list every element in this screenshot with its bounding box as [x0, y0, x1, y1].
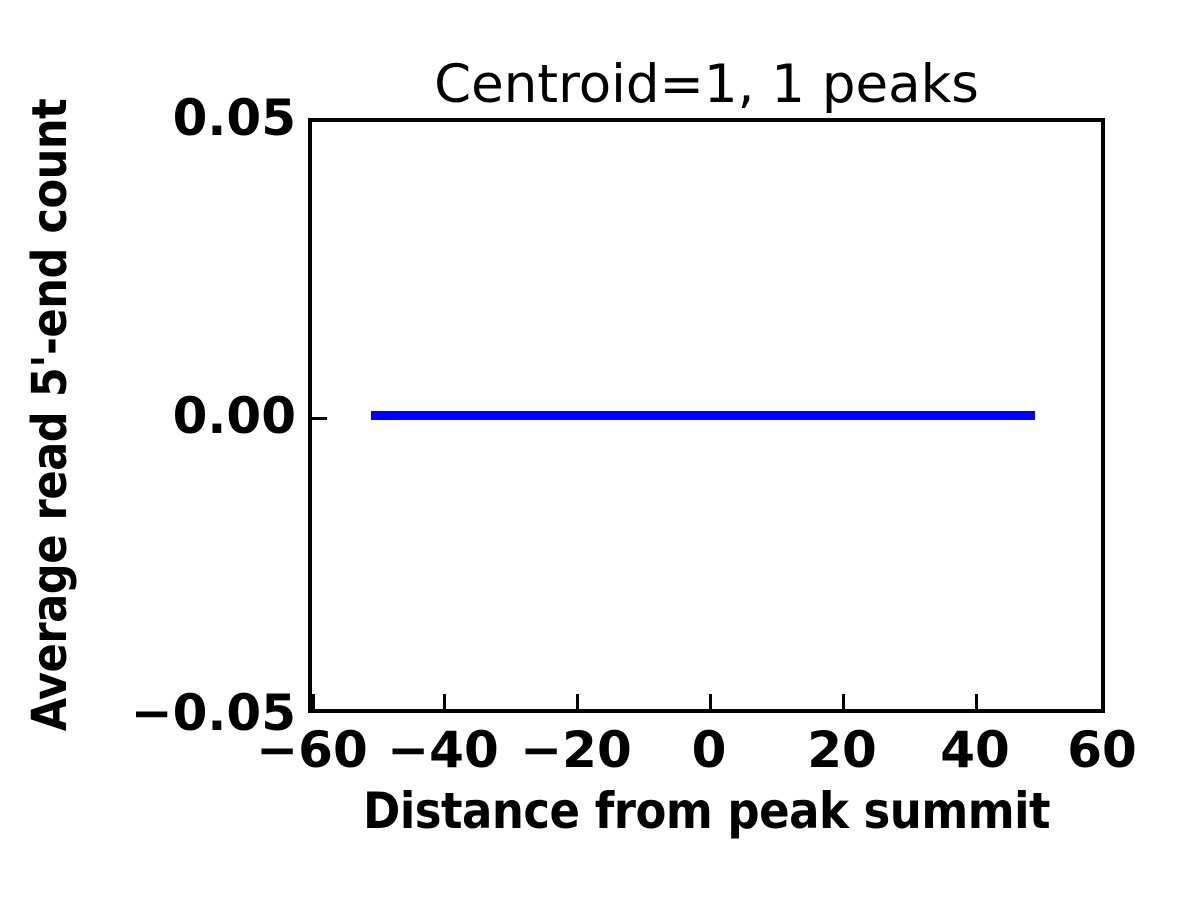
x-tick-label-20: 20 — [807, 722, 877, 778]
y-tick-label-neg0.05: −0.05 — [0, 685, 296, 741]
x-tick-label-neg60: −60 — [256, 722, 367, 778]
x-tick-label-neg40: −40 — [387, 722, 498, 778]
x-tick-0 — [709, 694, 712, 709]
x-tick-label-0: 0 — [692, 722, 727, 778]
plot-area[interactable] — [308, 118, 1105, 713]
series-line-average-read-count — [371, 411, 1035, 420]
y-tick-label-0.05: 0.05 — [0, 90, 296, 146]
x-tick-60 — [1102, 694, 1105, 709]
x-tick-label-60: 60 — [1067, 722, 1137, 778]
figure-canvas: Centroid=1, 1 peaks Average read 5'-end … — [0, 0, 1200, 900]
x-axis-label: Distance from peak summit — [308, 782, 1105, 840]
x-tick-label-40: 40 — [940, 722, 1010, 778]
x-tick-20 — [842, 694, 845, 709]
y-tick-label-0.00: 0.00 — [0, 388, 296, 444]
x-tick-neg40 — [443, 694, 446, 709]
chart-title: Centroid=1, 1 peaks — [308, 55, 1105, 115]
x-tick-neg20 — [576, 694, 579, 709]
x-tick-label-neg20: −20 — [520, 722, 631, 778]
x-tick-40 — [975, 694, 978, 709]
y-tick-0.00 — [312, 417, 327, 420]
x-tick-neg60 — [312, 694, 315, 709]
